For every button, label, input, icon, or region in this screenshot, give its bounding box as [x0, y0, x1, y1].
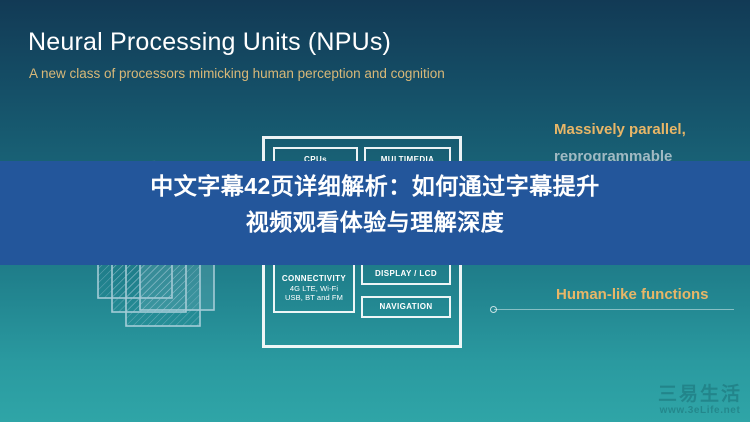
- callout-connector-3: [494, 309, 734, 310]
- block-connectivity-line1: 4G LTE, Wi-Fi: [290, 284, 338, 293]
- callout-massively-parallel: Massively parallel,: [554, 121, 686, 138]
- block-connectivity-label: CONNECTIVITY: [282, 274, 346, 284]
- watermark: 三易生活 www.3eLife.net: [658, 385, 742, 416]
- overlay-headline: 中文字幕42页详细解析：如何通过字幕提升 视频观看体验与理解深度: [0, 169, 750, 240]
- watermark-url: www.3eLife.net: [658, 405, 742, 416]
- callout-human-like-functions: Human-like functions: [556, 286, 709, 303]
- block-navigation-label: NAVIGATION: [379, 302, 432, 312]
- block-navigation: NAVIGATION: [361, 296, 451, 318]
- page-title: Neural Processing Units (NPUs): [28, 28, 391, 57]
- slide-canvas: Neural Processing Units (NPUs) A new cla…: [0, 0, 750, 422]
- page-subtitle: A new class of processors mimicking huma…: [29, 66, 445, 81]
- chip-row-3: CONNECTIVITY 4G LTE, Wi-Fi USB, BT and F…: [273, 263, 451, 318]
- block-display: DISPLAY / LCD: [361, 263, 451, 285]
- overlay-headline-line2: 视频观看体验与理解深度: [0, 205, 750, 241]
- block-display-label: DISPLAY / LCD: [375, 269, 437, 279]
- block-connectivity-line2: USB, BT and FM: [285, 293, 343, 302]
- block-connectivity: CONNECTIVITY 4G LTE, Wi-Fi USB, BT and F…: [273, 263, 355, 313]
- watermark-brand: 三易生活: [658, 385, 742, 405]
- overlay-headline-line1: 中文字幕42页详细解析：如何通过字幕提升: [150, 173, 600, 199]
